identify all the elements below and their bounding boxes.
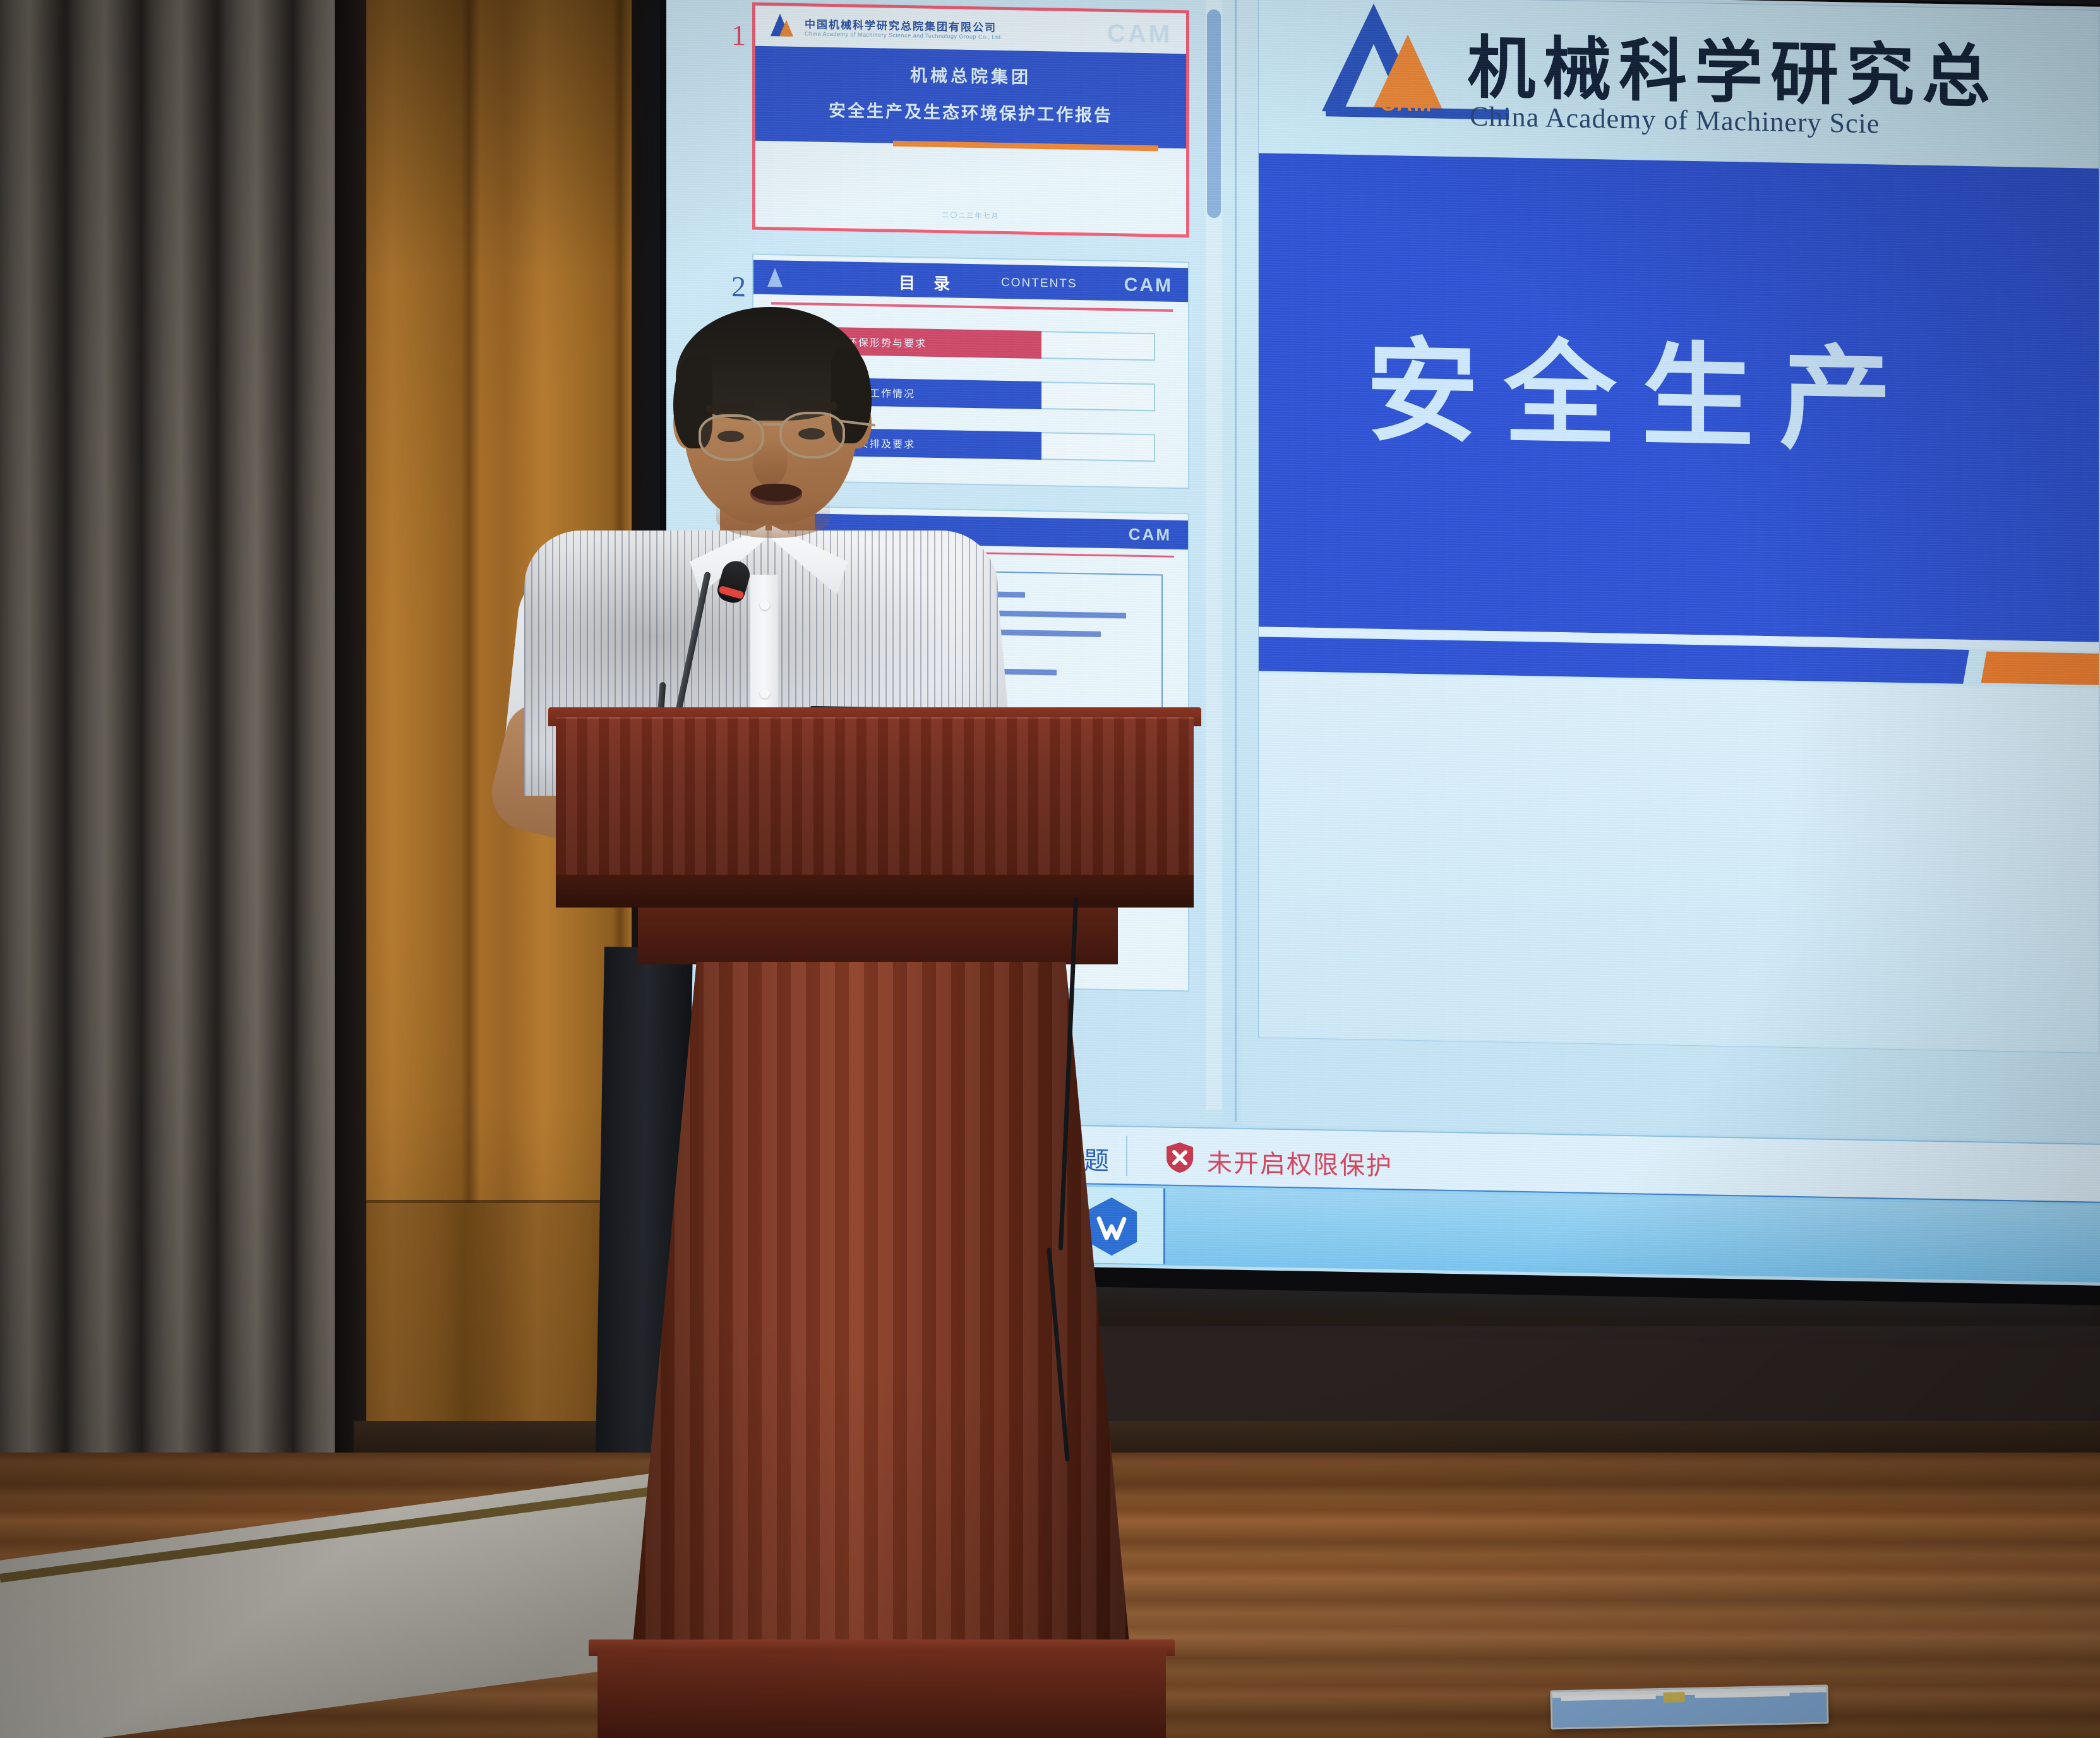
cam-logo-icon [771,13,796,37]
slide2-title-bar: 目 录 CONTENTS CAM [753,260,1188,303]
cam-logo-mark: CAM [1380,92,1432,117]
slide1-title-line2: 安全生产及生态环境保护工作报告 [755,95,1186,128]
eyeglasses-lens-right [779,412,845,458]
speaker-chin [716,500,830,538]
podium-top [556,717,1194,875]
slide-thumbnail-1[interactable]: 中国机械科学研究总院集团有限公司 China Academy of Machin… [752,3,1189,238]
slide2-title-en: CONTENTS [1001,276,1077,291]
slide-number-2: 2 [711,269,746,303]
permission-warning-text: 未开启权限保护 [1207,1142,1393,1182]
slide1-subtitle: 二〇二三年七月 [755,207,1186,224]
shield-x-icon[interactable] [1165,1142,1194,1174]
conference-hall-scene: 1 中国机械科学研究总院集团有限公司 China Academy of Mach… [0,0,2100,1738]
taskbar-empty-area[interactable] [1167,1189,2100,1281]
shirt-button [760,688,770,698]
slide-canvas-area[interactable]: CAM 机械科学研究总 China Academy of Machinery S… [1241,0,2100,1141]
slide2-watermark: CAM [1124,274,1173,296]
podium-shelf [556,875,1194,908]
slide1-title-band: 机械总院集团 安全生产及生态环境保护工作报告 [755,46,1186,148]
shirt-button [760,600,770,610]
status-separator [1126,1136,1127,1176]
slide3-watermark: CAM [1129,525,1172,545]
slide-number-1: 1 [711,18,746,52]
main-slide-logo-en: China Academy of Machinery Scie [1470,100,1880,140]
podium-base [597,1650,1166,1738]
speaker-nose [753,441,787,486]
cam-logo-icon [767,268,788,287]
floor-sign-board [1550,1684,1828,1729]
speaker-person [524,303,998,745]
floor-sign-marker [1664,1692,1685,1703]
eyeglasses-bridge [763,423,782,426]
main-slide[interactable]: CAM 机械科学研究总 China Academy of Machinery S… [1259,0,2099,1053]
main-slide-title: 安全生产 [1366,300,1917,472]
slide1-title-line1: 机械总院集团 [755,59,1186,91]
podium-neck [638,908,1118,964]
main-slide-footer [1259,673,2099,1053]
main-slide-orange-stripe [1981,651,2099,686]
slide2-title-cn: 目 录 [899,270,957,295]
stage-curtain [0,0,335,1535]
slide1-watermark: CAM [1107,20,1172,49]
cam-logo-icon: CAM [1322,3,1448,125]
rail-divider [1235,0,1237,1122]
thumbnail-scrollbar-thumb[interactable] [1207,9,1221,218]
main-slide-title-band: 安全生产 [1259,153,2099,643]
